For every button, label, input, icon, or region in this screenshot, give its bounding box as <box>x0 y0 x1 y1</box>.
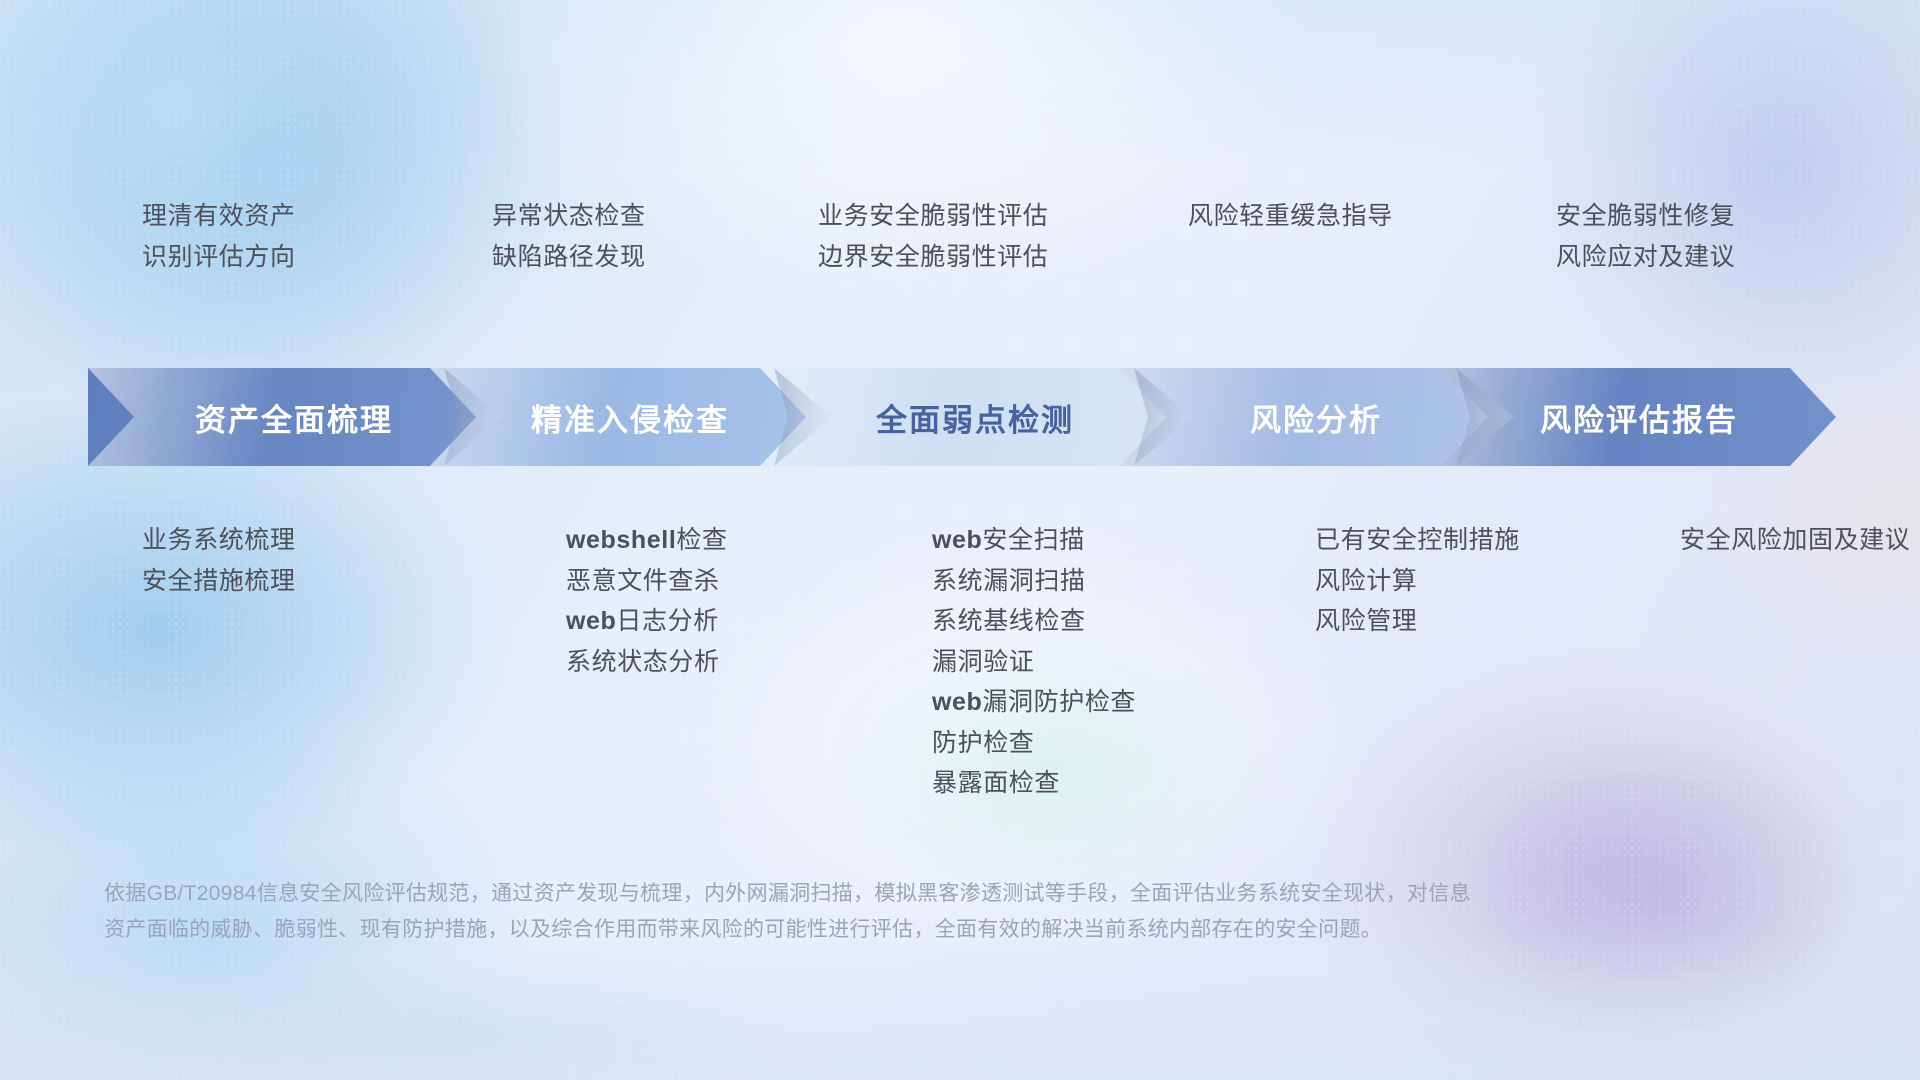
stage-label: 资产全面梳理 <box>195 395 393 440</box>
top-notes-intrusion-check: 异常状态检查 缺陷路径发现 <box>492 196 646 277</box>
note-item: 异常状态检查 <box>492 196 646 237</box>
top-notes-risk-report: 安全脆弱性修复 风险应对及建议 <box>1556 196 1735 277</box>
note-item: 风险轻重缓急指导 <box>1188 196 1393 237</box>
note-item: 缺陷路径发现 <box>492 237 646 278</box>
description-paragraph: 依据GB/T20984信息安全风险评估规范，通过资产发现与梳理，内外网漏洞扫描，… <box>104 876 1634 948</box>
note-item: 业务安全脆弱性评估 <box>818 196 1048 237</box>
stage-label: 风险分析 <box>1250 395 1382 440</box>
stage-label: 全面弱点检测 <box>876 395 1074 440</box>
top-notes-risk-analysis: 风险轻重缓急指导 <box>1188 196 1393 237</box>
note-item: 理清有效资产 <box>142 196 296 237</box>
note-item: 识别评估方向 <box>142 237 296 278</box>
stage-label: 风险评估报告 <box>1540 395 1738 440</box>
note-item: 安全措施梳理 <box>142 561 296 602</box>
description-line: 依据GB/T20984信息安全风险评估规范，通过资产发现与梳理，内外网漏洞扫描，… <box>104 876 1634 912</box>
note-item: 安全脆弱性修复 <box>1556 196 1735 237</box>
stage-label: 精准入侵检查 <box>531 395 729 440</box>
top-notes-weakness-detection: 业务安全脆弱性评估 边界安全脆弱性评估 <box>818 196 1048 277</box>
note-item: 业务系统梳理 <box>142 520 296 561</box>
description-line: 资产面临的威胁、脆弱性、现有防护措施，以及综合作用而带来风险的可能性进行评估，全… <box>104 912 1634 948</box>
note-item: 边界安全脆弱性评估 <box>818 237 1048 278</box>
note-item: 风险应对及建议 <box>1556 237 1735 278</box>
bottom-notes-asset-inventory: 业务系统梳理 安全措施梳理 <box>142 520 296 601</box>
top-notes-asset-inventory: 理清有效资产 识别评估方向 <box>142 196 296 277</box>
process-arrow-banner: 资产全面梳理 精准入侵检查 全面弱点检测 风险分析 风险评估报告 <box>88 368 1836 466</box>
